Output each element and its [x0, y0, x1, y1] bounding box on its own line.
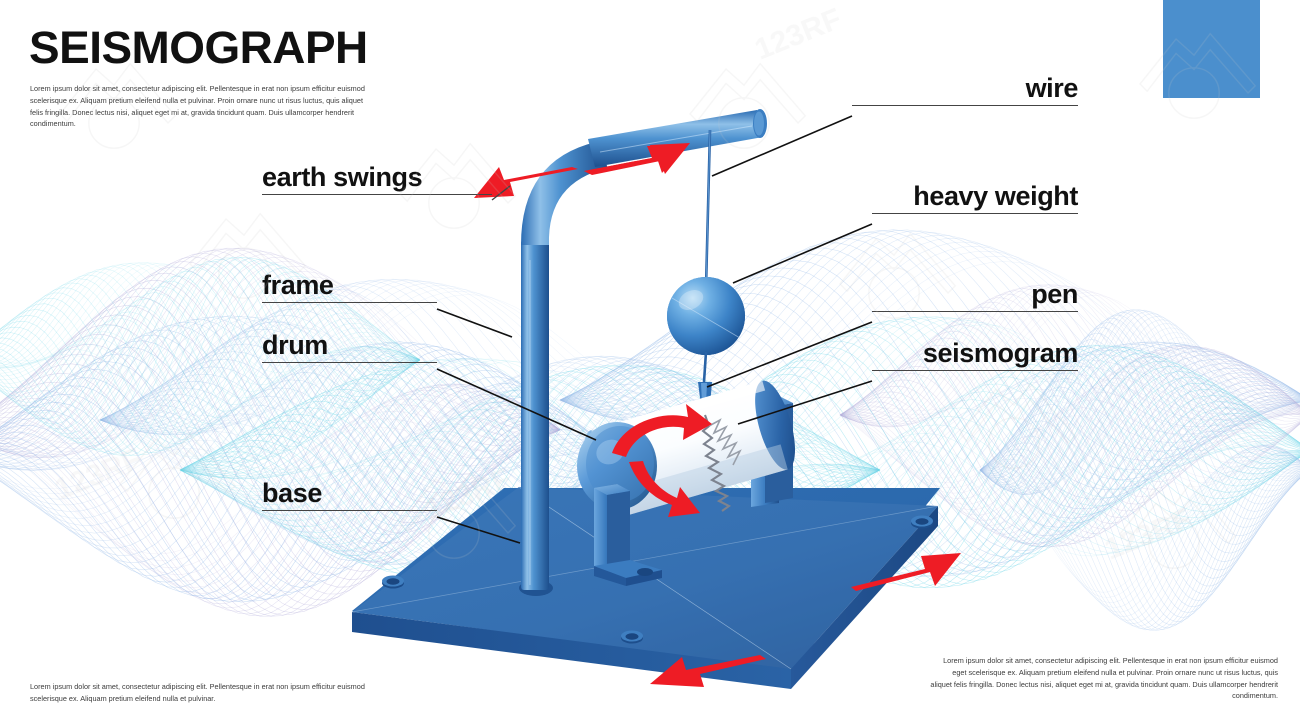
callout-label-base: base — [262, 479, 437, 507]
callout-label-pen: pen — [872, 280, 1078, 308]
page-title: SEISMOGRAPH — [29, 22, 368, 74]
callout-frame: frame — [262, 271, 437, 303]
callout-label-earth-swings: earth swings — [262, 163, 492, 191]
callout-rule — [262, 194, 492, 195]
footer-right-paragraph: Lorem ipsum dolor sit amet, consectetur … — [930, 655, 1278, 702]
bolt-hole — [621, 631, 643, 644]
callout-label-wire: wire — [852, 74, 1078, 102]
intro-paragraph: Lorem ipsum dolor sit amet, consectetur … — [30, 83, 372, 130]
callout-base: base — [262, 479, 437, 511]
callout-rule — [262, 510, 437, 511]
callout-rule — [262, 362, 437, 363]
callout-label-drum: drum — [262, 331, 437, 359]
seismograph-infographic: 123RF 123RF 123RF 123RF SEISMOGRAPH Lore… — [0, 0, 1300, 725]
callout-rule — [872, 213, 1078, 214]
callout-label-heavy-weight: heavy weight — [872, 182, 1078, 210]
suspension-wire — [706, 130, 710, 288]
callout-label-seismogram: seismogram — [872, 339, 1078, 367]
callout-rule — [872, 370, 1078, 371]
callout-label-frame: frame — [262, 271, 437, 299]
accent-corner-block — [1163, 0, 1260, 98]
footer-left-paragraph: Lorem ipsum dolor sit amet, consectetur … — [30, 681, 380, 705]
callout-rule — [852, 105, 1078, 106]
callout-wire: wire — [852, 74, 1078, 106]
callout-pen: pen — [872, 280, 1078, 312]
bolt-hole — [382, 576, 404, 589]
callout-seismogram: seismogram — [872, 339, 1078, 371]
callout-drum: drum — [262, 331, 437, 363]
base-plate — [352, 487, 940, 689]
callout-earth-swings: earth swings — [262, 163, 492, 195]
bolt-hole — [911, 516, 933, 529]
callout-heavy-weight: heavy weight — [872, 182, 1078, 214]
callout-rule — [262, 302, 437, 303]
callout-rule — [872, 311, 1078, 312]
heavy-weight-sphere — [667, 277, 745, 355]
